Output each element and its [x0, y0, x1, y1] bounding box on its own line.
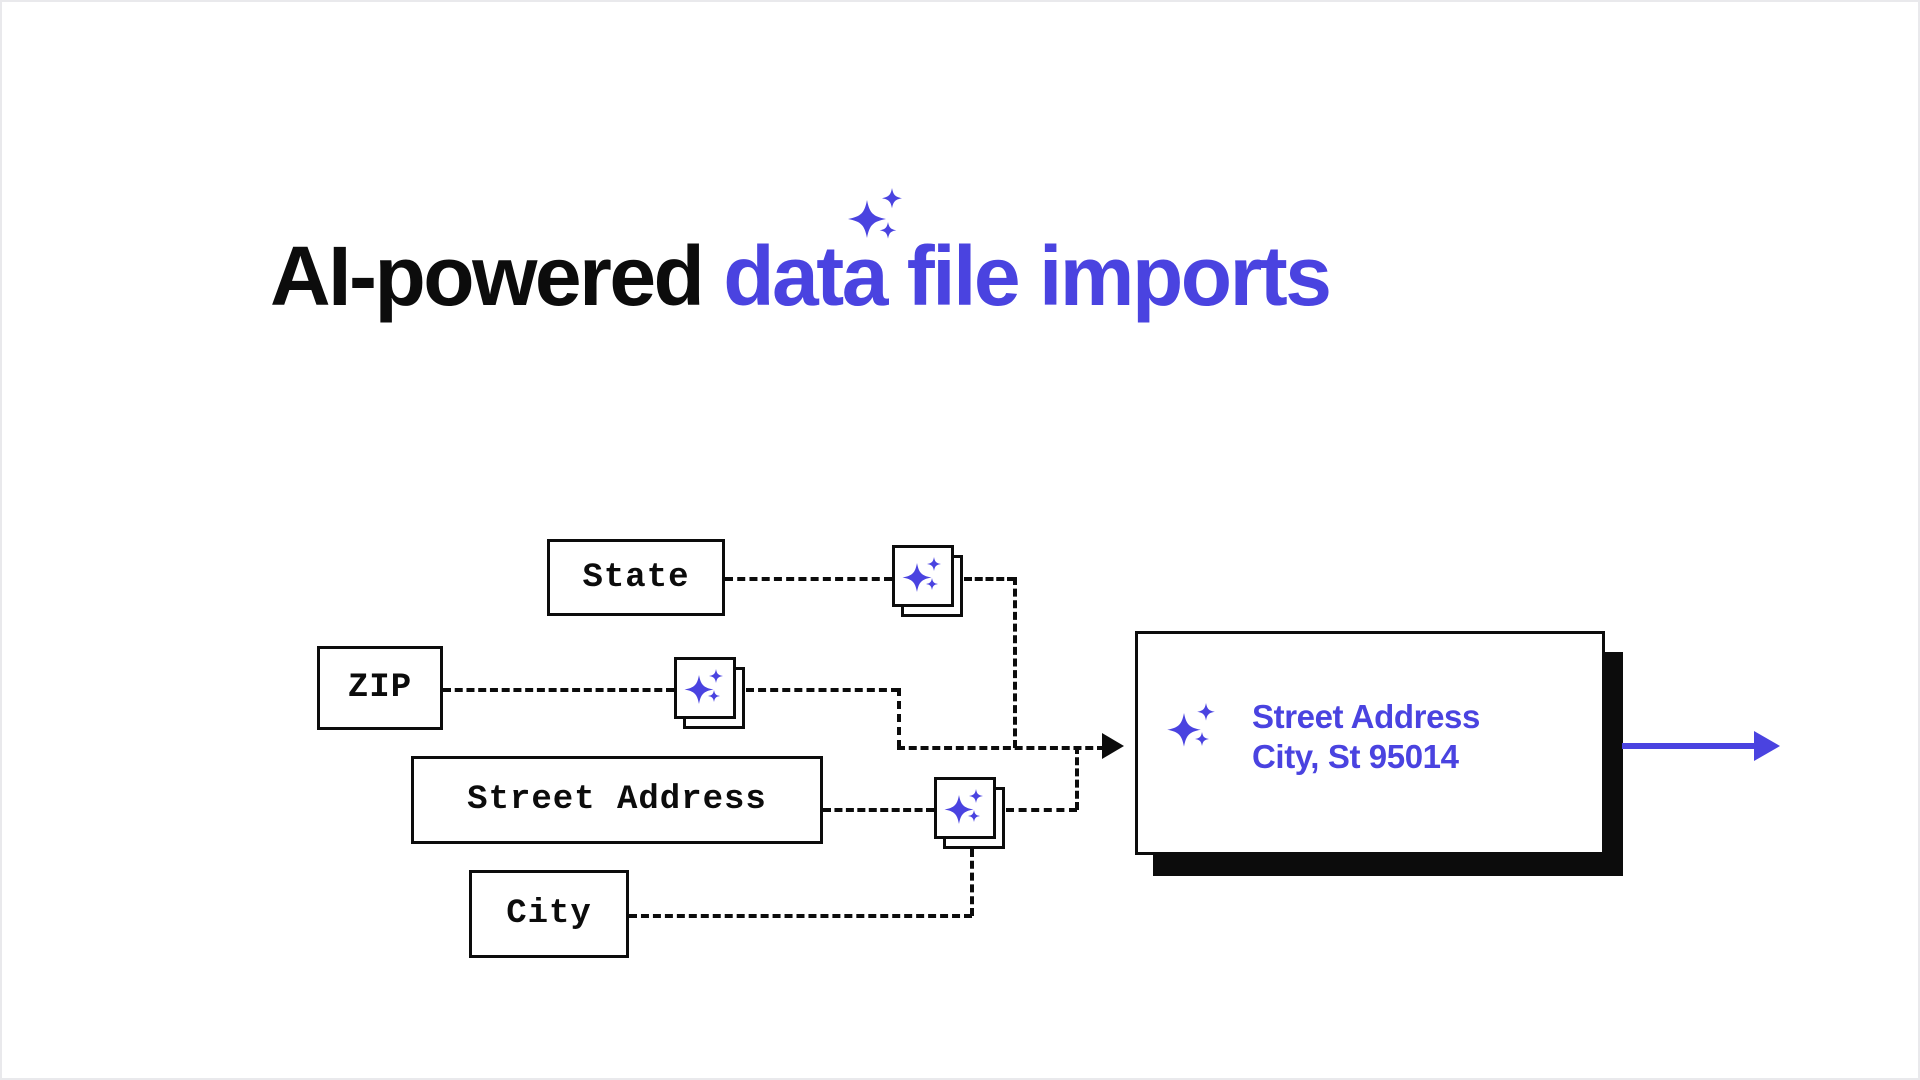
connector-zip-horizontal-2	[746, 688, 899, 692]
connector-state-horizontal	[725, 577, 892, 581]
field-box-zip-label: ZIP	[348, 669, 412, 707]
connector-city-vertical	[970, 849, 974, 916]
field-box-street-address[interactable]: Street Address	[411, 756, 823, 844]
output-address-line2: City, St 95014	[1252, 737, 1480, 777]
field-box-city-label: City	[506, 895, 592, 933]
connector-state-vertical	[1013, 577, 1017, 748]
sparkle-icon	[1165, 703, 1221, 753]
page-title-black-part: AI-powered	[270, 229, 723, 323]
slide-canvas: AI-powered data file imports State ZIP S…	[0, 0, 1920, 1080]
page-title-blue-part: data file imports	[723, 229, 1329, 323]
ai-sparkle-card-icon	[674, 657, 746, 729]
field-box-state-label: State	[582, 559, 689, 597]
connector-street-horizontal	[823, 808, 934, 812]
output-arrow-line	[1622, 743, 1762, 749]
field-box-city[interactable]: City	[469, 870, 629, 958]
ai-sparkle-card-icon	[892, 545, 964, 617]
output-address-line1: Street Address	[1252, 697, 1480, 737]
connector-street-vertical	[1075, 746, 1079, 810]
field-box-state[interactable]: State	[547, 539, 725, 616]
connector-street-horizontal-2	[1006, 808, 1077, 812]
arrow-right-icon	[1102, 733, 1124, 759]
card-front-layer	[674, 657, 736, 719]
connector-trunk-horizontal	[897, 746, 1105, 750]
arrow-right-icon	[1754, 731, 1780, 761]
field-box-zip[interactable]: ZIP	[317, 646, 443, 730]
connector-city-horizontal	[629, 914, 972, 918]
card-front-layer	[892, 545, 954, 607]
connector-state-horizontal-2	[964, 577, 1015, 581]
page-title: AI-powered data file imports	[270, 234, 1330, 318]
ai-sparkle-card-icon	[934, 777, 1006, 849]
output-address-text: Street Address City, St 95014	[1252, 697, 1480, 778]
connector-zip-vertical	[897, 688, 901, 748]
field-box-street-address-label: Street Address	[467, 781, 767, 819]
card-front-layer	[934, 777, 996, 839]
connector-zip-horizontal	[443, 688, 674, 692]
